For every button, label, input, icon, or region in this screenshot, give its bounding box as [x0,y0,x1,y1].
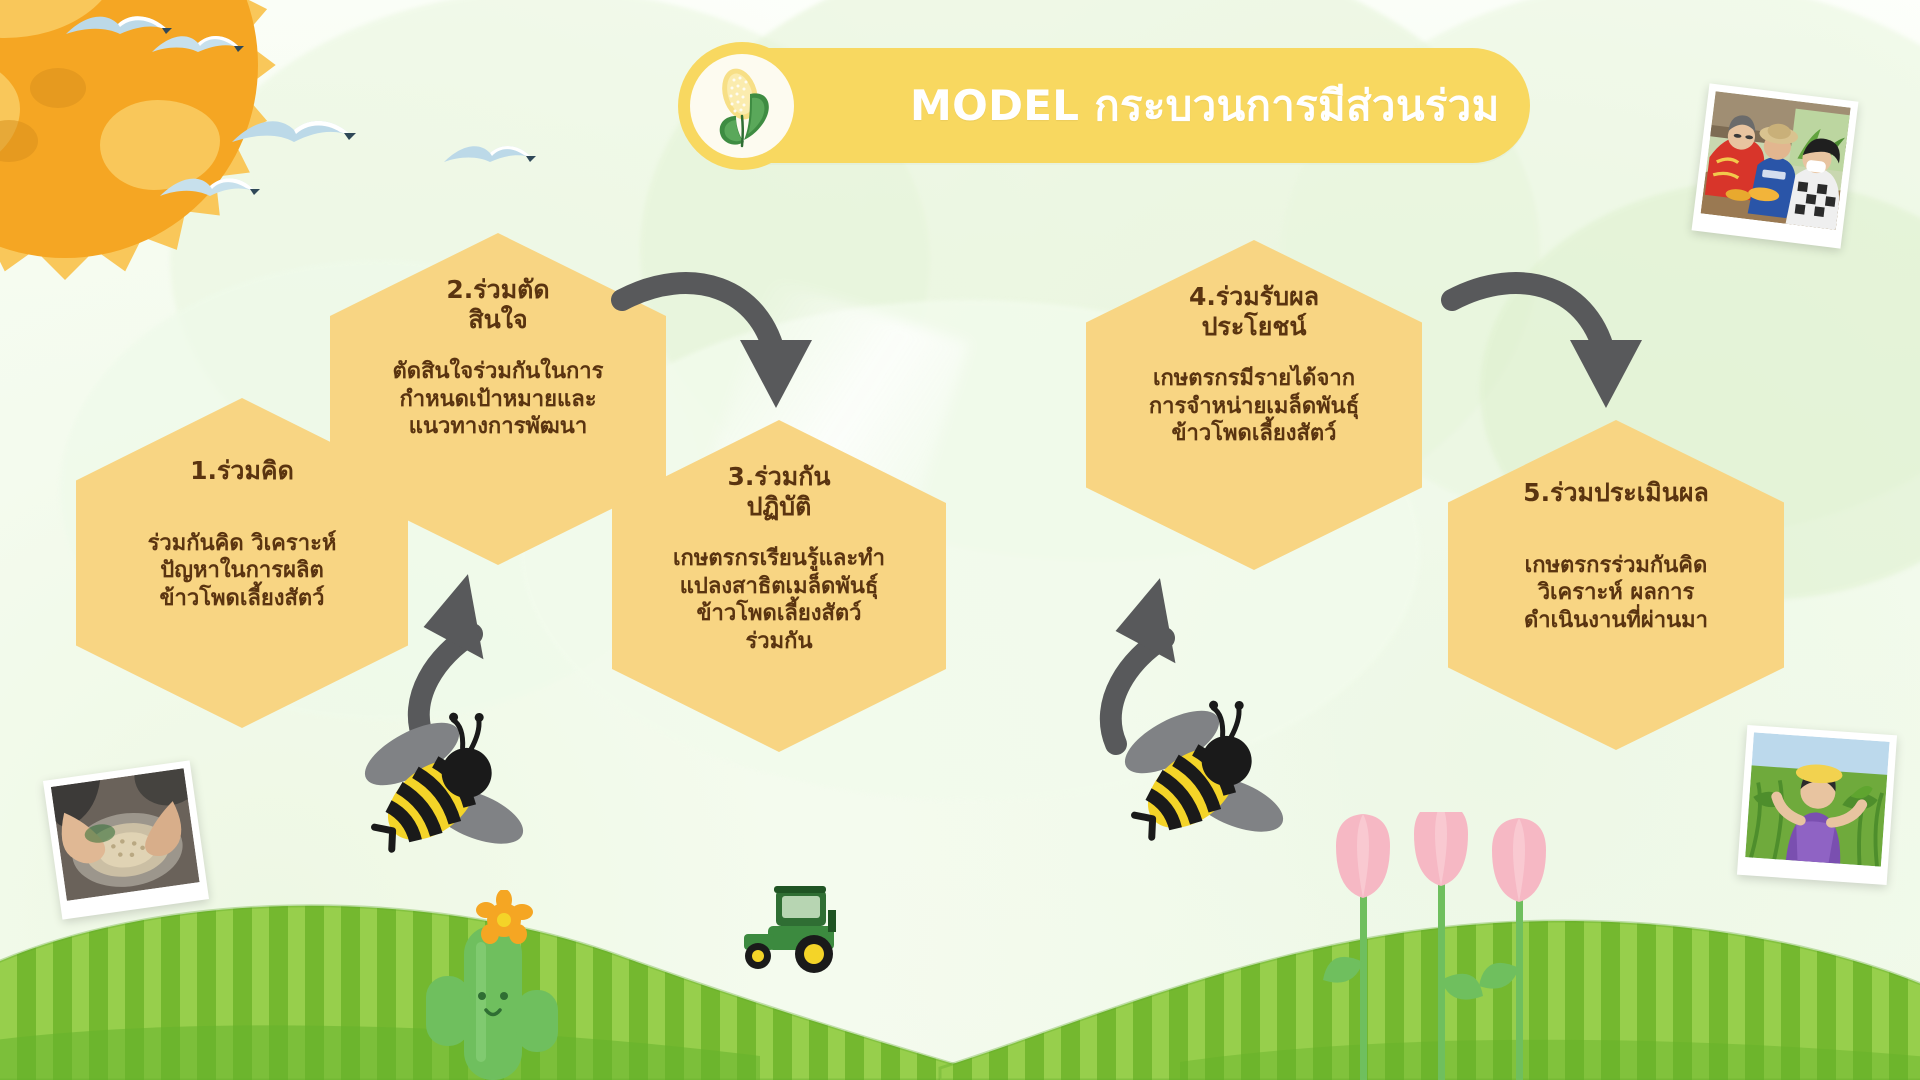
step-title: 5.ร่วมประเมินผล [1523,478,1709,508]
step-body: เกษตรกรเรียนรู้และทำ แปลงสาธิตเมล็ดพันธุ… [673,545,885,656]
photo-image [51,768,200,901]
step-body: ร่วมกันคิด วิเคราะห์ ปัญหาในการผลิต ข้าว… [148,530,337,613]
cactus-icon [418,890,566,1080]
seagull-icon [148,28,244,66]
page-title: MODEL กระบวนการมีส่วนร่วม [910,85,1500,127]
corn-icon [706,64,778,148]
seagull-icon [440,138,536,176]
step-body: เกษตรกรร่วมกันคิด วิเคราะห์ ผลการ ดำเนิน… [1524,552,1708,635]
photo-bottom-right[interactable] [1737,725,1897,885]
tulip-icon [1318,812,1568,1080]
title-badge [678,42,806,170]
step-body: เกษตรกรมีรายได้จาก การจำหน่ายเมล็ดพันธุ์… [1149,365,1359,448]
infographic-canvas: MODEL กระบวนการมีส่วนร่วม [0,0,1920,1080]
photo-image [1745,732,1889,866]
step-title: 4.ร่วมรับผล ประโยชน์ [1189,282,1319,341]
arrow-step-4-to-5 [1430,268,1660,448]
hill-icon [0,780,1920,1080]
photo-bottom-left[interactable] [43,760,209,919]
title-banner: MODEL กระบวนการมีส่วนร่วม [700,48,1530,163]
step-body: ตัดสินใจร่วมกันในการ กำหนดเป้าหมายและ แน… [393,358,604,441]
step-title: 3.ร่วมกัน ปฏิบัติ [727,462,830,521]
arrow-step-2-to-3 [600,268,830,448]
step-title: 2.ร่วมตัด สินใจ [446,275,549,334]
step-title: 1.ร่วมคิด [190,456,294,486]
seagull-icon [228,110,356,158]
photo-top-right[interactable] [1692,83,1859,248]
bee-icon [1110,700,1290,860]
photo-image [1701,91,1851,230]
seagull-icon [156,170,260,210]
tractor-icon [728,882,856,974]
bee-icon [350,712,530,872]
